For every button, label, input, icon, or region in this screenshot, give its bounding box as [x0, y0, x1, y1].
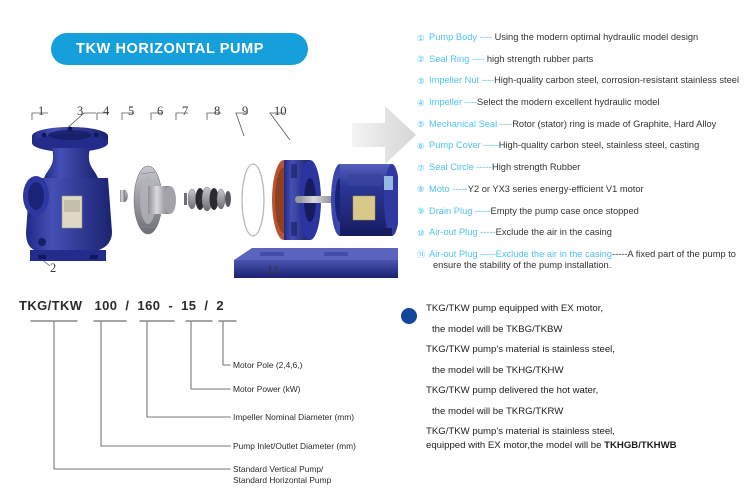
legend-dash-6: ----- — [481, 140, 499, 150]
legend-dash-1: ---- — [477, 32, 495, 42]
legend-description-1: Using the modern optimal hydraulic model… — [495, 32, 699, 42]
legend-item-7: ⑦ Seal Circle -----High strength Rubber — [417, 162, 752, 174]
nomen-label-impeller-diameter: Impeller Nominal Diameter (mm) — [233, 412, 354, 423]
note-line-1: TKG/TKW pump equipped with EX motor, — [426, 303, 751, 314]
legend-number-3: ③ — [417, 75, 429, 87]
legend-dash-8: ----- — [450, 184, 468, 194]
legend-description-9: Empty the pump case once stopped — [491, 206, 639, 216]
legend-description-11-blue: Exclude the air in the casing — [496, 249, 612, 259]
legend-number-11: ⑪ — [417, 249, 429, 261]
legend-part-name-6: Pump Cover — [429, 140, 481, 150]
legend-description-3: High-quality carbon steel, corrosion-res… — [494, 75, 739, 85]
legend-part-name-9: Drain Plug — [429, 206, 472, 216]
note-line-7: TKG/TKW pump's material is stainless ste… — [426, 426, 751, 437]
pump-datasheet-page: TKW HORIZONTAL PUMP — [0, 0, 756, 500]
page-title: TKW HORIZONTAL PUMP — [76, 41, 264, 57]
note-line-8-text: equipped with EX motor,the model will be — [426, 440, 604, 451]
legend-dash-7: ----- — [474, 162, 492, 172]
legend-part-name-1: Pump Body — [429, 32, 477, 42]
legend-item-9: ⑨ Drain Plug -----Empty the pump case on… — [417, 206, 752, 218]
legend-number-7: ⑦ — [417, 162, 429, 174]
note-line-5: TKG/TKW pump delivered the hot water, — [426, 385, 751, 396]
legend-number-1: ① — [417, 32, 429, 44]
exploded-pump-assembly-image: 1 3 4 5 6 7 8 9 10 2 11 — [8, 100, 398, 285]
legend-item-2: ② Seal Ring ---- high strength rubber pa… — [417, 54, 752, 66]
legend-description-2: high strength rubber parts — [487, 54, 593, 64]
legend-item-5: ⑤ Mechanical Seal ----Rotor (stator) rin… — [417, 119, 752, 131]
legend-number-5: ⑤ — [417, 119, 429, 131]
legend-description-6: High-quality carbon steel, stainless ste… — [499, 140, 700, 150]
legend-number-10: ⑩ — [417, 227, 429, 239]
legend-description-11: -----A fixed part of the pump to — [612, 249, 736, 259]
callout-number-2: 2 — [50, 261, 56, 276]
legend-part-name-11: Air-out Plug — [429, 249, 478, 259]
callout-number-5: 5 — [128, 104, 134, 119]
legend-number-4: ④ — [417, 97, 429, 109]
legend-part-name-3: Impeller Nut — [429, 75, 479, 85]
nomen-label-motor-pole: Motor Pole (2,4,6,) — [233, 360, 302, 371]
legend-number-9: ⑨ — [417, 206, 429, 218]
model-variants-notes: TKG/TKW pump equipped with EX motor, the… — [401, 303, 751, 460]
legend-dash-4: ---- — [462, 97, 477, 107]
callout-number-1: 1 — [38, 104, 44, 119]
callout-number-11: 11 — [267, 263, 279, 278]
callout-number-7: 7 — [182, 104, 188, 119]
legend-part-name-2: Seal Ring — [429, 54, 469, 64]
legend-number-6: ⑥ — [417, 140, 429, 152]
note-line-3: TKG/TKW pump's material is stainless ste… — [426, 344, 751, 355]
legend-number-8: ⑧ — [417, 184, 429, 196]
legend-item-1: ① Pump Body ---- Using the modern optima… — [417, 32, 752, 44]
nomen-label-motor-power: Motor Power (kW) — [233, 384, 300, 395]
legend-dash-11: ----- — [478, 249, 496, 259]
legend-item-4: ④ Impeller ----Select the modern excelle… — [417, 97, 752, 109]
note-line-6: the model will be TKRG/TKRW — [426, 406, 751, 417]
callout-number-4: 4 — [103, 104, 109, 119]
page-title-banner: TKW HORIZONTAL PUMP — [51, 33, 308, 65]
model-nomenclature-diagram: TKG/TKW 100 / 160 - 15 / 2 — [14, 296, 394, 491]
right-arrow-icon — [352, 104, 418, 166]
nomen-label-pump-orientation: Standard Vertical Pump/ Standard Horizon… — [233, 464, 331, 485]
callout-number-8: 8 — [214, 104, 220, 119]
legend-description-7: High strength Rubber — [492, 162, 580, 172]
bullet-dot-icon — [401, 308, 417, 324]
legend-item-6: ⑥ Pump Cover -----High-quality carbon st… — [417, 140, 752, 152]
legend-part-name-8: Moto — [429, 184, 450, 194]
legend-description-10: Exclude the air in the casing — [496, 227, 612, 237]
callout-number-10: 10 — [274, 104, 287, 119]
legend-description-5: Rotor (stator) ring is made of Graphite,… — [512, 119, 716, 129]
legend-description-11-continuation: ensure the stability of the pump install… — [429, 260, 752, 271]
legend-item-10: ⑩ Air-out Plug -----Exclude the air in t… — [417, 227, 752, 239]
legend-dash-2: ---- — [469, 54, 487, 64]
note-line-8: equipped with EX motor,the model will be… — [426, 440, 751, 451]
legend-item-11: ⑪ Air-out Plug -----Exclude the air in t… — [417, 249, 752, 271]
parts-legend-list: ① Pump Body ---- Using the modern optima… — [417, 32, 752, 281]
legend-description-4: Select the modern excellent hydraulic mo… — [477, 97, 659, 107]
callout-number-9: 9 — [242, 104, 248, 119]
note-line-4: the model will be TKHG/TKHW — [426, 365, 751, 376]
legend-dash-5: ---- — [497, 119, 512, 129]
legend-description-8: Y2 or YX3 series energy-efficient V1 mot… — [468, 184, 644, 194]
callout-number-6: 6 — [157, 104, 163, 119]
note-line-8-model-code: TKHGB/TKHWB — [604, 440, 676, 451]
legend-number-2: ② — [417, 54, 429, 66]
legend-dash-10: ----- — [478, 227, 496, 237]
callout-number-3: 3 — [77, 104, 83, 119]
legend-item-3: ③ Impeller Nut ----High-quality carbon s… — [417, 75, 752, 87]
note-line-2: the model will be TKBG/TKBW — [426, 324, 751, 335]
legend-part-name-10: Air-out Plug — [429, 227, 478, 237]
legend-part-name-7: Seal Circle — [429, 162, 474, 172]
legend-dash-3: ---- — [479, 75, 494, 85]
legend-item-8: ⑧ Moto -----Y2 or YX3 series energy-effi… — [417, 184, 752, 196]
legend-dash-9: ----- — [472, 206, 490, 216]
nomen-label-inlet-outlet-diameter: Pump Inlet/Outlet Diameter (mm) — [233, 441, 356, 452]
legend-part-name-5: Mechanical Seal — [429, 119, 497, 129]
legend-part-name-4: Impeller — [429, 97, 462, 107]
